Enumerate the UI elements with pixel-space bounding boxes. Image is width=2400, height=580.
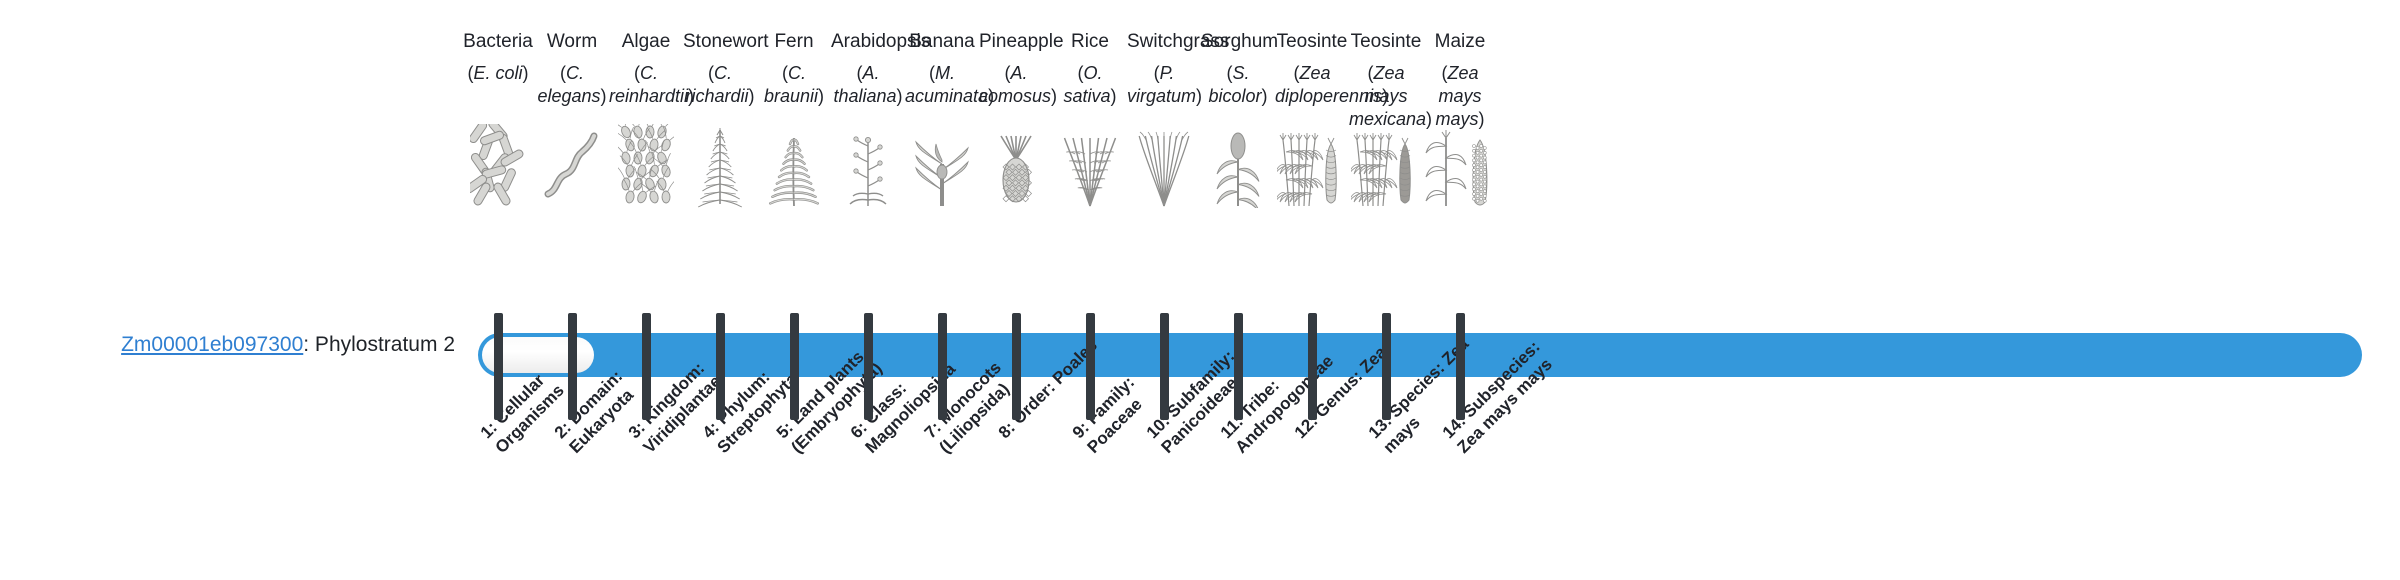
- species-common-name: Stonewort: [683, 30, 757, 54]
- species-latin-name: (P. virgatum): [1127, 62, 1201, 108]
- species-latin-name: (E. coli): [461, 62, 535, 85]
- species-latin-name: (C. richardii): [683, 62, 757, 108]
- species-common-name: Maize: [1423, 30, 1497, 54]
- rice-illustration: [1053, 122, 1127, 208]
- species-column: Arabidopsis(A. thaliana): [831, 30, 905, 108]
- species-column: Stonewort(C. richardii): [683, 30, 757, 108]
- phylostratum-tick[interactable]: [1382, 313, 1391, 420]
- species-common-name: Rice: [1053, 30, 1127, 54]
- species-common-name: Teosinte: [1275, 30, 1349, 54]
- algae-illustration: [609, 122, 683, 208]
- arabidopsis-illustration: [831, 122, 905, 208]
- species-latin-name: (Zea mays mexicana): [1349, 62, 1423, 131]
- gene-id-link[interactable]: Zm00001eb097300: [121, 333, 303, 356]
- species-column: Sorghum(S. bicolor): [1201, 30, 1275, 108]
- species-latin-name: (S. bicolor): [1201, 62, 1275, 108]
- species-common-name: Banana: [905, 30, 979, 54]
- species-column: Teosinte(Zea mays mexicana): [1349, 30, 1423, 131]
- gene-phylostratum-text: : Phylostratum 2: [303, 333, 455, 356]
- species-column: Banana(M. acuminata): [905, 30, 979, 108]
- fern-illustration: [757, 122, 831, 208]
- phylostratum-tick[interactable]: [1234, 313, 1243, 420]
- species-column: Teosinte(Zea diploperennis): [1275, 30, 1349, 108]
- species-latin-name: (O. sativa): [1053, 62, 1127, 108]
- species-latin-name: (Zea diploperennis): [1275, 62, 1349, 108]
- species-latin-name: (Zea mays mays): [1423, 62, 1497, 131]
- species-common-name: Teosinte: [1349, 30, 1423, 54]
- species-column: Pineapple(A. comosus): [979, 30, 1053, 108]
- species-common-name: Arabidopsis: [831, 30, 905, 54]
- species-latin-name: (C. elegans): [535, 62, 609, 108]
- species-common-name: Switchgrass: [1127, 30, 1201, 54]
- species-column: Worm(C. elegans): [535, 30, 609, 108]
- phylostratum-tick[interactable]: [790, 313, 799, 420]
- teosinte-mexicana-illustration: [1349, 122, 1423, 208]
- phylostratum-tick[interactable]: [642, 313, 651, 420]
- species-column: Maize(Zea mays mays): [1423, 30, 1497, 131]
- sorghum-illustration: [1201, 122, 1275, 208]
- species-column: Switchgrass(P. virgatum): [1127, 30, 1201, 108]
- species-column: Rice(O. sativa): [1053, 30, 1127, 108]
- species-column: Algae(C. reinhardtii): [609, 30, 683, 108]
- switchgrass-illustration: [1127, 122, 1201, 208]
- phylostratum-tick[interactable]: [716, 313, 725, 420]
- stonewort-illustration: [683, 122, 757, 208]
- teosinte-diploperennis-illustration: [1275, 122, 1349, 208]
- species-latin-name: (M. acuminata): [905, 62, 979, 108]
- bacteria-illustration: [461, 122, 535, 208]
- gene-label: Zm00001eb097300: Phylostratum 2: [0, 332, 455, 358]
- phylostratum-tick[interactable]: [1012, 313, 1021, 420]
- species-common-name: Pineapple: [979, 30, 1053, 54]
- species-common-name: Bacteria: [461, 30, 535, 54]
- species-latin-name: (C. braunii): [757, 62, 831, 108]
- species-header-row: Bacteria(E. coli)Worm(C. elegans) Algae(…: [462, 30, 2362, 320]
- species-column: Fern(C. braunii): [757, 30, 831, 108]
- worm-illustration: [535, 122, 609, 208]
- species-column: Bacteria(E. coli): [461, 30, 535, 85]
- species-common-name: Algae: [609, 30, 683, 54]
- pineapple-illustration: [979, 122, 1053, 208]
- species-common-name: Sorghum: [1201, 30, 1275, 54]
- maize-illustration: [1423, 122, 1497, 208]
- species-latin-name: (C. reinhardtii): [609, 62, 683, 108]
- phylostratum-tick[interactable]: [1456, 313, 1465, 420]
- phylostratum-tick[interactable]: [938, 313, 947, 420]
- banana-illustration: [905, 122, 979, 208]
- species-common-name: Worm: [535, 30, 609, 54]
- species-latin-name: (A. thaliana): [831, 62, 905, 108]
- phylostratum-tick[interactable]: [494, 313, 503, 420]
- phylostratum-tick[interactable]: [864, 313, 873, 420]
- species-common-name: Fern: [757, 30, 831, 54]
- phylostratum-tick[interactable]: [568, 313, 577, 420]
- phylostratigraphy-timeline: Zm00001eb097300: Phylostratum 2 Bacteria…: [0, 0, 2400, 580]
- phylostratum-tick[interactable]: [1086, 313, 1095, 420]
- phylostratum-tick[interactable]: [1308, 313, 1317, 420]
- phylostratum-tick[interactable]: [1160, 313, 1169, 420]
- species-latin-name: (A. comosus): [979, 62, 1053, 108]
